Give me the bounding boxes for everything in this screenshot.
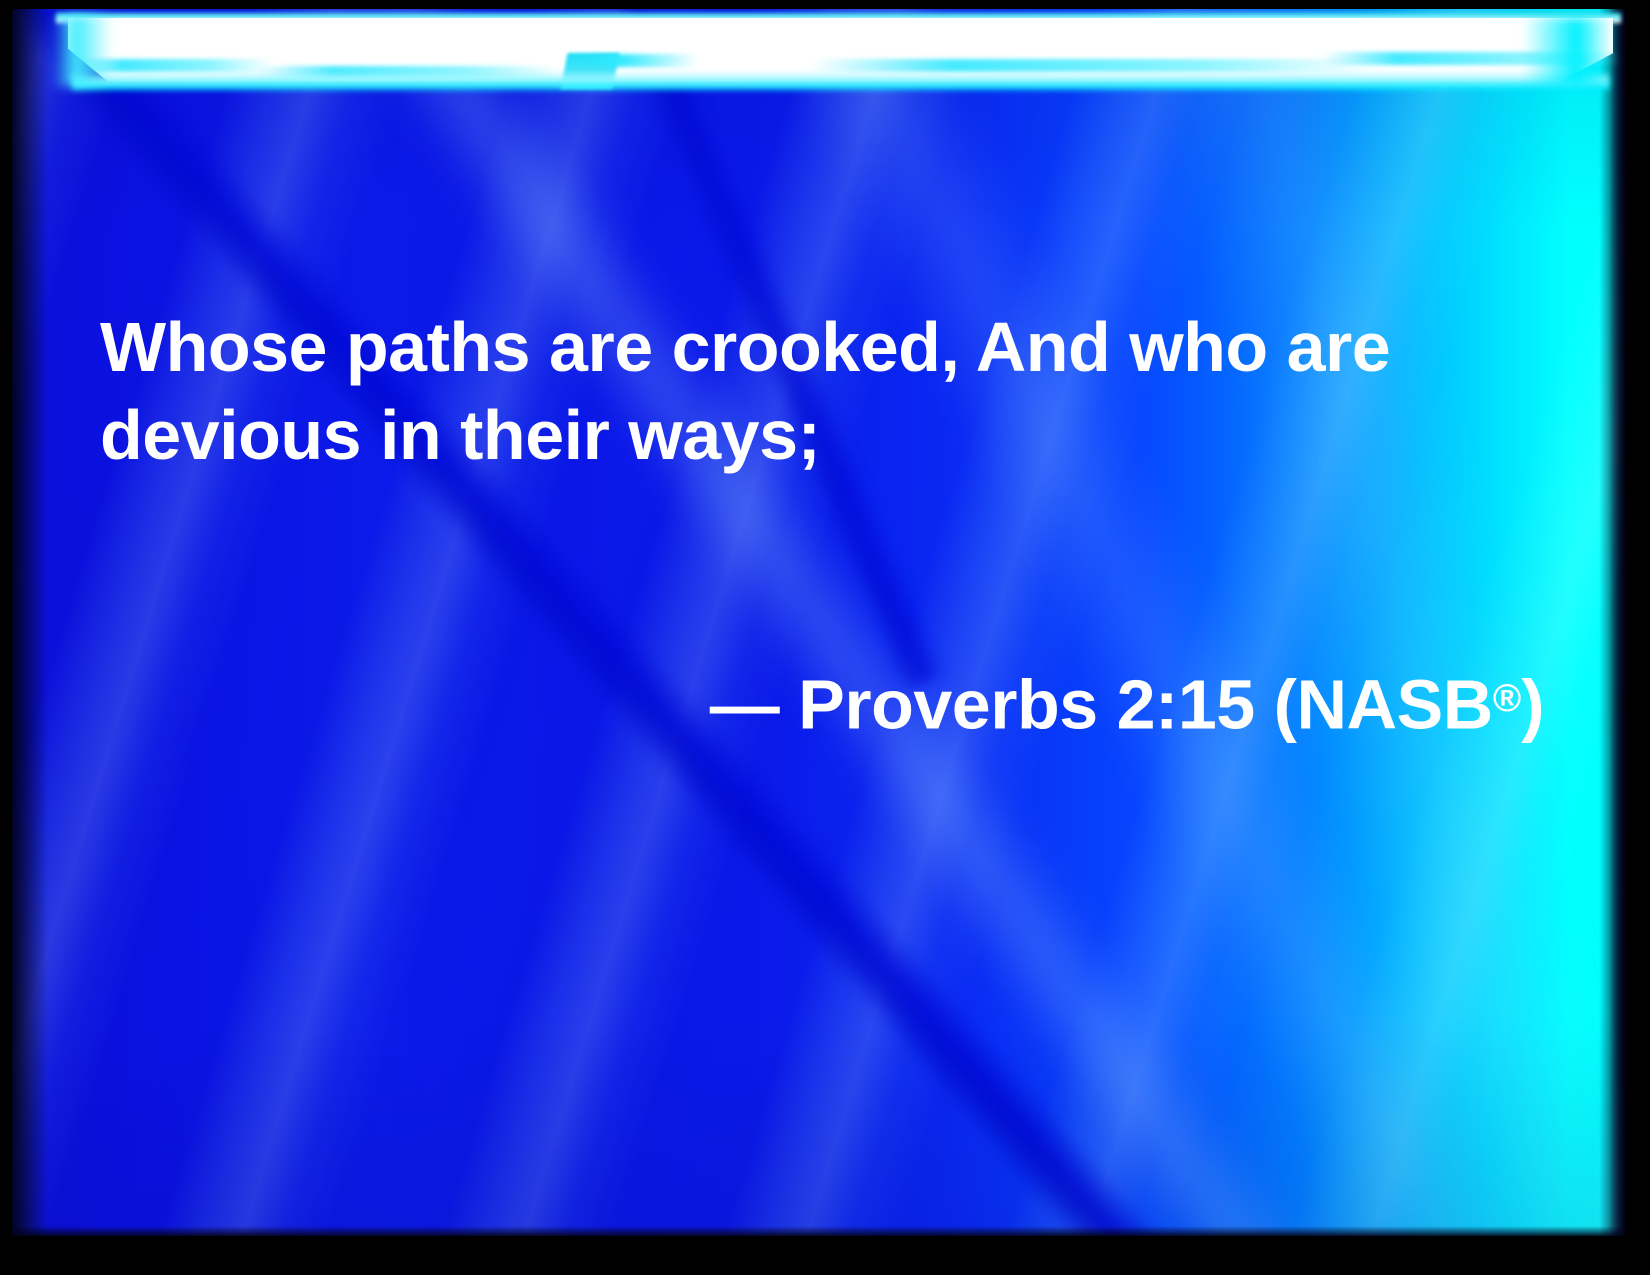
slide-canvas: Whose paths are crooked, And who are dev… [12,9,1625,1236]
quote-slide: Whose paths are crooked, And who are dev… [0,0,1650,1275]
header-band-right-taper [1523,17,1613,87]
attribution-close-paren: ) [1521,665,1544,743]
background-edge-bottom [12,1226,1625,1236]
header-band [12,9,1625,105]
attribution-reference: — Proverbs 2:15 (NASB [710,665,1493,743]
registered-trademark-icon: ® [1493,677,1521,720]
header-band-left-taper [52,15,112,87]
background-edge-left [12,9,48,1236]
verse-block: Whose paths are crooked, And who are dev… [100,127,1550,924]
header-band-bottom-glow [72,71,1609,91]
background-edge-right [1599,9,1625,1236]
verse-attribution: — Proverbs 2:15 (NASB®) [100,655,1550,748]
header-band-streak-3 [568,54,698,67]
verse-text: Whose paths are crooked, And who are dev… [100,303,1550,479]
